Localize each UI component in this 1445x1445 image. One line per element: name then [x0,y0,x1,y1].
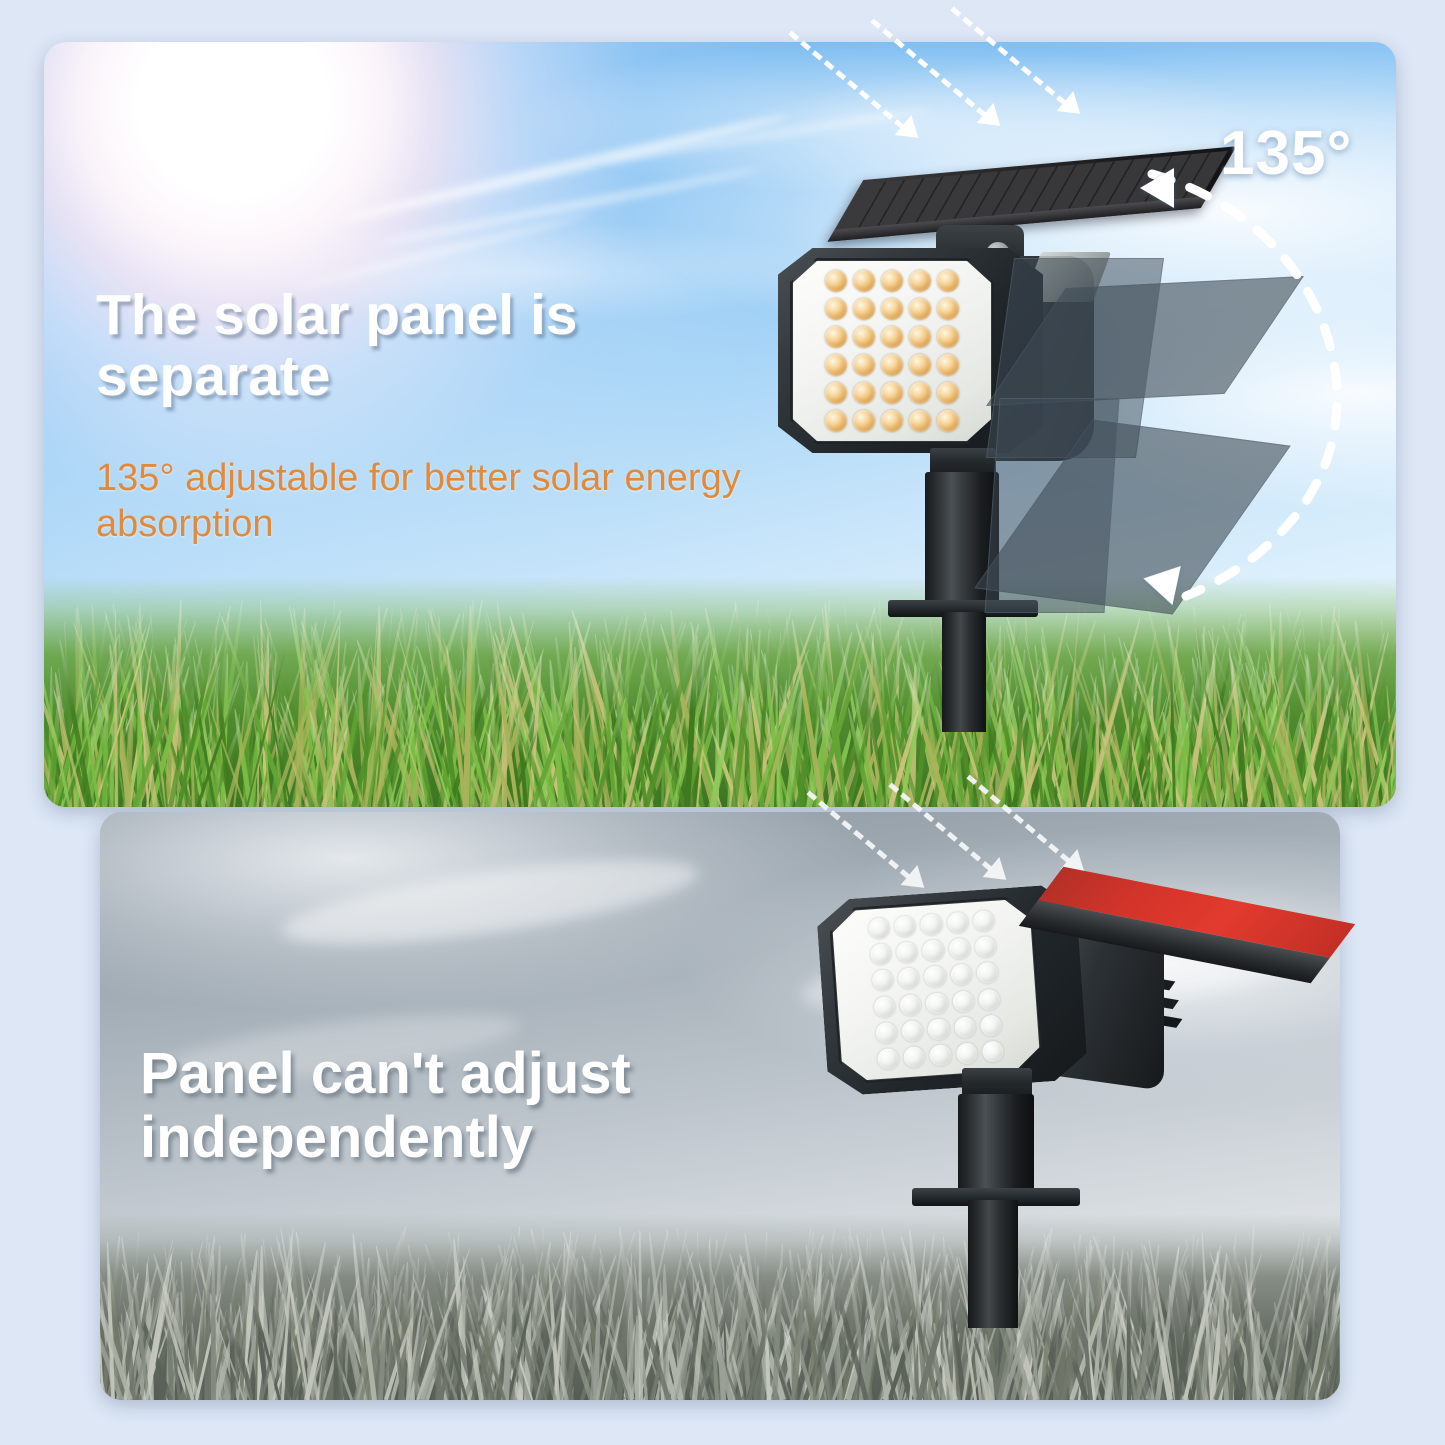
rotation-arc [1100,150,1400,630]
advantage-headline: The solar panel is separate [96,285,776,407]
gray-grass [100,1214,1340,1400]
drawback-headline: Panel can't adjust independently [140,1042,840,1170]
arc-arrowhead-upper [1140,168,1174,208]
comparison-graphic: 135° The solar panel is separate 135° ad… [0,0,1445,1445]
pole-shaft [958,1094,1034,1198]
ground-stake [968,1200,1018,1328]
angle-label: 135° [1220,118,1352,189]
lamp-face-rim [828,895,1044,1085]
advantage-subheadline: 135° adjustable for better solar energy … [96,455,776,548]
ground-stake [942,612,986,732]
lamp-face-rim [790,258,994,444]
